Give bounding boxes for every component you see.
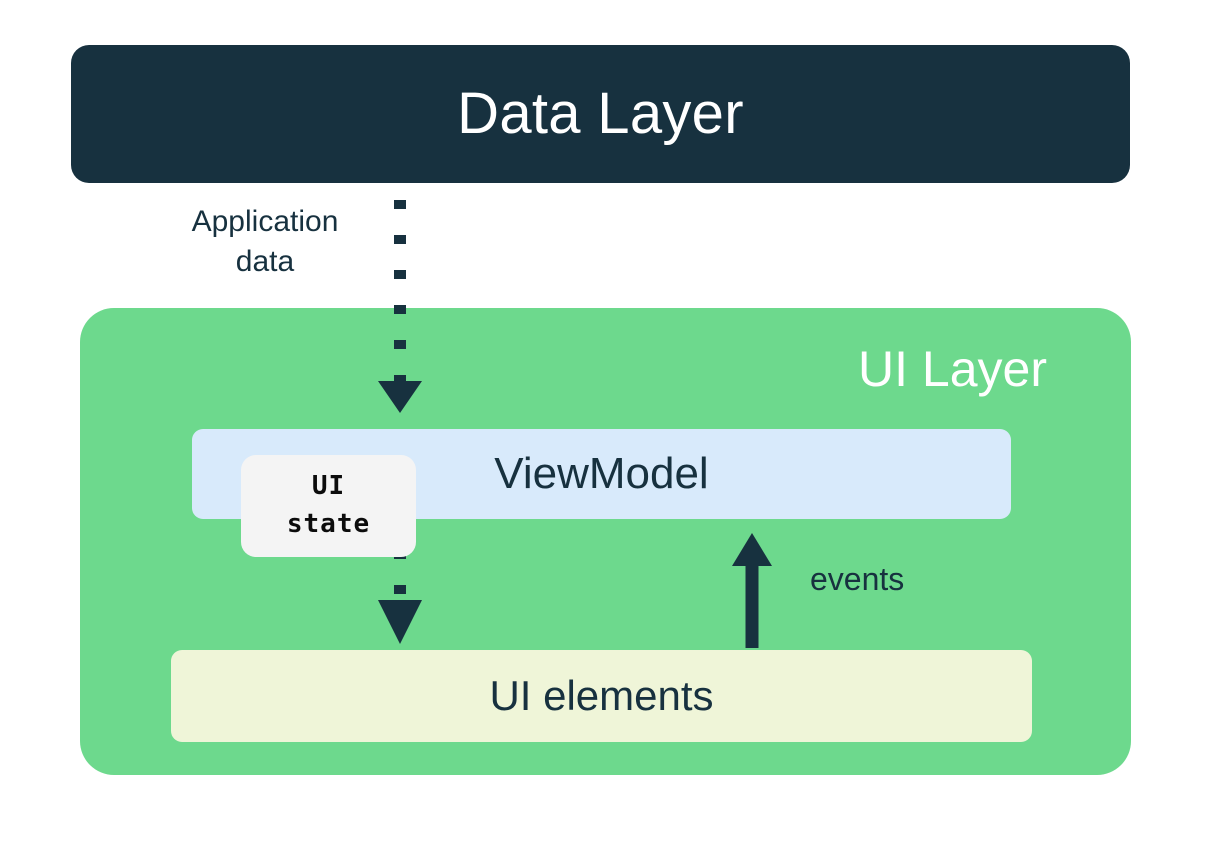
ui-elements-label: UI elements bbox=[489, 675, 713, 717]
viewmodel-label: ViewModel bbox=[494, 452, 708, 496]
diagram-canvas: Data Layer Application data UI Layer Vie… bbox=[0, 0, 1218, 852]
events-label: events bbox=[810, 563, 904, 595]
ui-elements-box: UI elements bbox=[171, 650, 1032, 742]
ui-state-badge: UI state bbox=[241, 455, 416, 557]
data-layer-label: Data Layer bbox=[457, 85, 744, 143]
application-data-label: Application data bbox=[150, 202, 380, 281]
data-layer-box: Data Layer bbox=[71, 45, 1130, 183]
ui-layer-label: UI Layer bbox=[858, 344, 1047, 394]
ui-state-line-1: UI bbox=[312, 468, 345, 506]
ui-state-line-2: state bbox=[287, 506, 370, 544]
